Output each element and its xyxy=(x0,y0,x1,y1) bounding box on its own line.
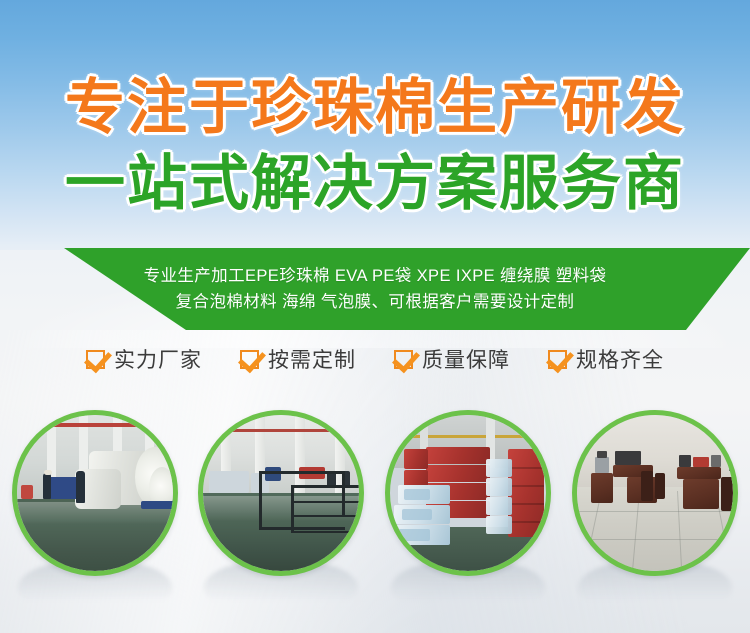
feature-badge: 质量保障 xyxy=(394,344,510,374)
photo-circle xyxy=(572,410,738,576)
headline-secondary: 一站式解决方案服务商 xyxy=(0,152,750,216)
feature-label: 规格齐全 xyxy=(576,344,664,374)
check-icon xyxy=(240,350,259,369)
feature-badge-row: 实力厂家 按需定制 质量保障 规格齐全 xyxy=(0,336,750,382)
check-icon xyxy=(394,350,413,369)
feature-badge: 规格齐全 xyxy=(548,344,664,374)
feature-label: 质量保障 xyxy=(422,344,510,374)
factory-floor-frame-photo xyxy=(198,410,364,576)
factory-foam-rolls-photo xyxy=(12,410,178,576)
product-list-line-2: 复合泡棉材料 海绵 气泡膜、可根据客户需要设计定制 xyxy=(176,290,575,314)
feature-badge: 按需定制 xyxy=(240,344,356,374)
office-interior-photo xyxy=(572,410,738,576)
photo-circle-row xyxy=(0,410,750,580)
headline-primary: 专注于珍珠棉生产研发 xyxy=(0,76,750,140)
promotional-banner: 专注于珍珠棉生产研发 一站式解决方案服务商 专业生产加工EPE珍珠棉 EVA P… xyxy=(0,0,750,633)
check-icon xyxy=(548,350,567,369)
check-icon xyxy=(86,350,105,369)
photo-circle xyxy=(198,410,364,576)
product-list-line-1: 专业生产加工EPE珍珠棉 EVA PE袋 XPE IXPE 缠绕膜 塑料袋 xyxy=(144,264,607,288)
feature-label: 实力厂家 xyxy=(114,344,202,374)
feature-badge: 实力厂家 xyxy=(86,344,202,374)
photo-circle xyxy=(385,410,551,576)
feature-label: 按需定制 xyxy=(268,344,356,374)
photo-circle xyxy=(12,410,178,576)
warehouse-stacked-products-photo xyxy=(385,410,551,576)
